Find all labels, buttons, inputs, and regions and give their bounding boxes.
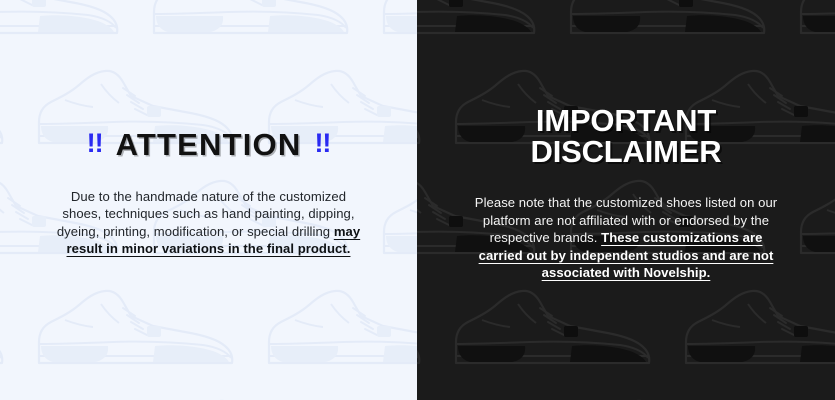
disclaimer-body: Please note that the customized shoes li… xyxy=(467,194,785,282)
disclaimer-title-line1: IMPORTANT xyxy=(531,105,722,136)
attention-heading: !! ATTENTION !! xyxy=(87,129,331,160)
attention-title: ATTENTION xyxy=(116,129,302,160)
attention-content: !! ATTENTION !! Due to the handmade natu… xyxy=(0,0,417,400)
disclaimer-content: IMPORTANT DISCLAIMER Please note that th… xyxy=(417,0,835,400)
disclaimer-panel: IMPORTANT DISCLAIMER Please note that th… xyxy=(417,0,835,400)
attention-panel: !! ATTENTION !! Due to the handmade natu… xyxy=(0,0,417,400)
double-exclamation-right-icon: !! xyxy=(314,130,330,157)
attention-body-normal: Due to the handmade nature of the custom… xyxy=(57,189,355,239)
attention-body: Due to the handmade nature of the custom… xyxy=(53,188,365,258)
disclaimer-banner: !! ATTENTION !! Due to the handmade natu… xyxy=(0,0,835,400)
disclaimer-title-line2: DISCLAIMER xyxy=(531,136,722,167)
double-exclamation-left-icon: !! xyxy=(87,130,103,157)
disclaimer-heading: IMPORTANT DISCLAIMER xyxy=(531,105,722,167)
